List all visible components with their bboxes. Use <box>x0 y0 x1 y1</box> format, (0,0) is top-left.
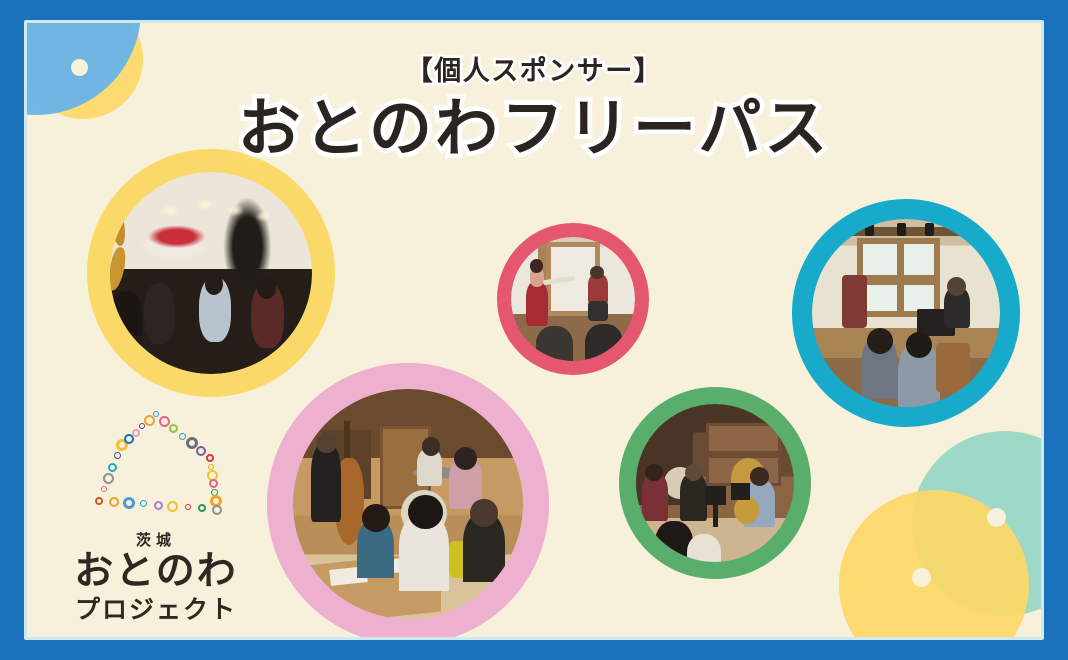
decor-dot-bottom-right-b <box>912 568 931 587</box>
photo-inner-brass-ensemble <box>636 404 794 562</box>
logo-ring-dot <box>154 501 163 510</box>
logo-prefecture-label: 茨城 <box>63 529 249 550</box>
photo-bubble-brass-ensemble <box>619 387 811 579</box>
seated-listener-head <box>590 266 604 280</box>
guest-head-c <box>470 499 498 527</box>
logo-ring-dot <box>95 497 103 505</box>
logo-ring-dot <box>208 464 214 470</box>
photo-scene-community-workshop <box>812 219 1000 407</box>
drummer-head <box>422 437 440 455</box>
violinist-head <box>530 259 544 273</box>
otonowa-project-logo: 茨城 おとのわ プロジェクト <box>63 411 249 625</box>
photo-scene-violin-recital <box>511 237 635 361</box>
guest-head-b <box>408 495 443 530</box>
bookshelf-divider <box>706 451 782 457</box>
photo-inner-saxophone-ensemble <box>110 172 312 374</box>
heading-block: 【個人スポンサー】 おとのわフリーパス <box>27 49 1041 165</box>
photo-bubble-community-workshop <box>792 199 1020 427</box>
audience-head-right <box>585 324 622 361</box>
photo-bubble-saxophone-ensemble <box>87 149 335 397</box>
logo-ring-dot <box>185 504 191 510</box>
music-stand-sheet <box>110 172 140 198</box>
guest-head-back <box>454 447 477 470</box>
bassist-body <box>311 444 341 522</box>
logo-ring-dot <box>114 452 121 459</box>
performer-left <box>144 283 174 344</box>
wooden-chair <box>936 343 970 392</box>
logo-ring-dot <box>198 504 206 512</box>
bassist-head <box>316 433 337 454</box>
logo-ring-dot <box>169 424 178 433</box>
poster-subtitle: 【個人スポンサー】 <box>27 49 1041 88</box>
logo-ring-dot <box>123 497 135 509</box>
logo-ring-dot <box>108 463 117 472</box>
photo-bubble-violin-recital <box>497 223 649 375</box>
window-mullion-vertical <box>897 238 905 317</box>
decor-dot-bottom-right-a <box>987 508 1006 527</box>
photo-scene-jazz-trio-cafe <box>293 389 523 619</box>
spotlight-c <box>925 223 934 236</box>
logo-suffix-label: プロジェクト <box>63 595 249 625</box>
performer-right-head <box>257 277 275 299</box>
music-stand-b <box>731 483 750 500</box>
logo-ring-dot <box>109 497 119 507</box>
guest-head-a <box>362 504 390 532</box>
logo-ring-dot <box>139 423 145 429</box>
photo-inner-community-workshop <box>812 219 1000 407</box>
logo-ring-dot <box>212 505 222 515</box>
saxophone-right <box>110 246 128 292</box>
photo-bubble-jazz-trio-cafe <box>267 363 549 637</box>
poster-canvas: 【個人スポンサー】 おとのわフリーパス 茨城 おとのわ プロジェクト <box>27 23 1041 637</box>
otonowa-rings-logo-mark-icon <box>85 411 227 523</box>
logo-ring-dot <box>209 479 218 488</box>
logo-ring-dot <box>167 501 178 512</box>
photo-scene-brass-ensemble <box>636 404 794 562</box>
spotlight-a <box>865 223 874 236</box>
music-stand-a-pole <box>713 502 718 527</box>
logo-ring-dot <box>144 415 155 426</box>
seated-listener-legs <box>588 301 608 321</box>
logo-ring-dot <box>103 473 114 484</box>
photo-inner-jazz-trio-cafe <box>293 389 523 619</box>
logo-ring-dot <box>179 433 186 440</box>
saxophone-left <box>110 197 129 247</box>
spotlight-b <box>897 223 906 236</box>
equipment-stack <box>842 275 866 328</box>
logo-ring-dot <box>101 486 107 492</box>
violinist-dress <box>526 282 548 327</box>
poster-root: 【個人スポンサー】 おとのわフリーパス 茨城 おとのわ プロジェクト <box>0 0 1068 660</box>
audience-head-b <box>110 336 144 374</box>
audience-head-front-b <box>687 534 722 562</box>
brass-player-head-c <box>750 467 769 486</box>
decor-dot-top-left <box>71 59 88 76</box>
logo-name-label: おとのわ <box>63 552 249 593</box>
audience-head-left <box>536 326 573 361</box>
logo-ring-dot <box>132 429 140 437</box>
logo-ring-dot <box>140 500 147 507</box>
photo-inner-violin-recital <box>511 237 635 361</box>
photo-scene-saxophone-ensemble <box>110 172 312 374</box>
logo-ring-dot <box>206 454 214 462</box>
attendee-head-a <box>867 328 893 354</box>
logo-ring-dot <box>196 446 206 456</box>
audience-head-a <box>110 291 142 335</box>
